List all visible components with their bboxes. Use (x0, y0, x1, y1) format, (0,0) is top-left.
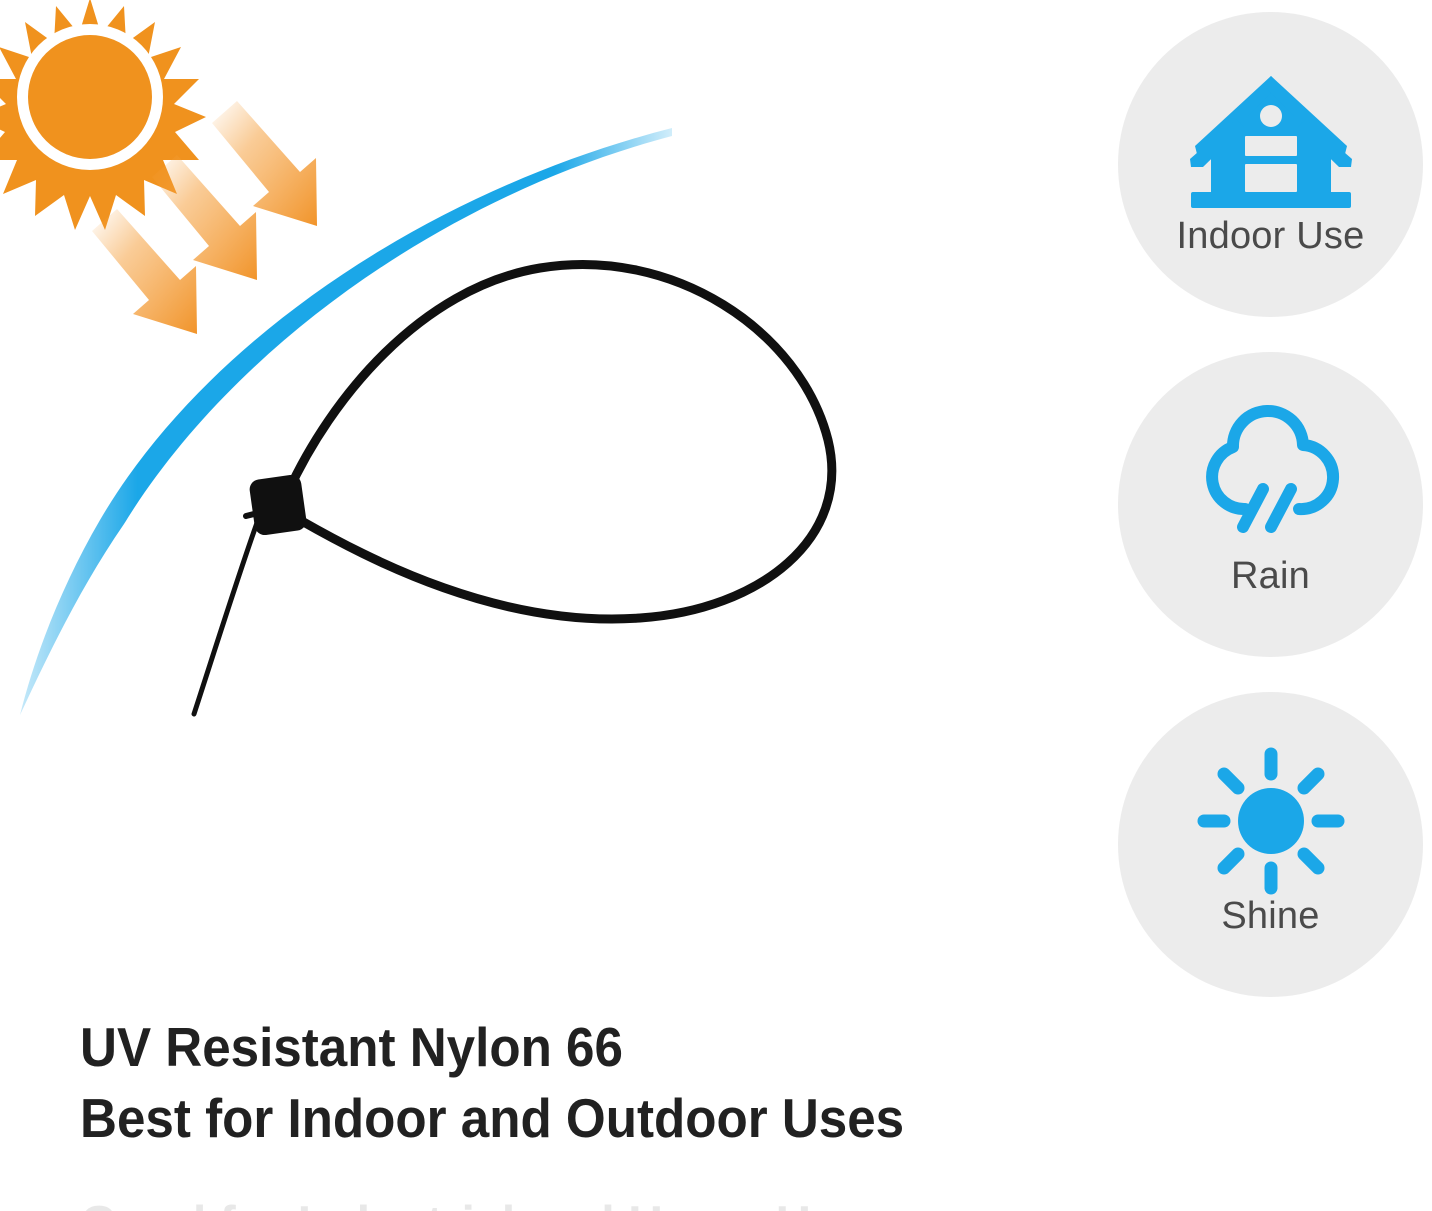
sun-disc (1238, 788, 1304, 854)
headline-line-1: UV Resistant Nylon 66 (80, 1012, 1010, 1083)
badge-label-shine: Shine (1221, 897, 1319, 935)
feature-badge-column: Indoor Use Rain (1118, 12, 1428, 997)
sun-ray-arrow-3 (92, 209, 197, 334)
house-icon (1183, 81, 1359, 201)
headline-line-3-clipped-region: Good for Industrial and Home Uses (80, 1196, 1080, 1211)
uv-resistance-illustration (0, 0, 1090, 1000)
sun-ray-arrow-1 (212, 101, 317, 226)
headline-block: UV Resistant Nylon 66 Best for Indoor an… (80, 1012, 1080, 1154)
sun-icon (1196, 761, 1346, 881)
cable-tie-loop (288, 264, 832, 619)
badge-label-indoor-use: Indoor Use (1177, 217, 1365, 255)
cable-tie-head (248, 474, 307, 537)
badge-indoor-use[interactable]: Indoor Use (1118, 12, 1423, 317)
badge-rain[interactable]: Rain (1118, 352, 1423, 657)
cable-tie-tail (194, 520, 258, 714)
headline-line-3: Good for Industrial and Home Uses (80, 1196, 1010, 1211)
sun-core (28, 35, 152, 159)
badge-label-rain: Rain (1231, 557, 1310, 595)
product-infographic: Indoor Use Rain (0, 0, 1432, 1211)
sun-ray-arrow-2 (152, 155, 257, 280)
rain-cloud-icon (1187, 421, 1355, 541)
headline-line-2: Best for Indoor and Outdoor Uses (80, 1083, 1010, 1154)
badge-shine[interactable]: Shine (1118, 692, 1423, 997)
